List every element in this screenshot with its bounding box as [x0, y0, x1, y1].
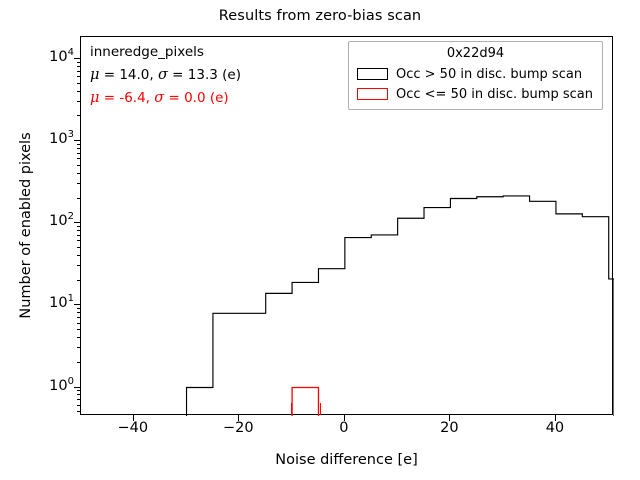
- sigma-symbol-black: σ: [158, 67, 168, 83]
- histogram-outline-black: [187, 196, 614, 416]
- x-tick-label: −40: [103, 420, 163, 436]
- y-tick-label: 100: [34, 379, 74, 394]
- x-tick-red-marker: [291, 403, 292, 415]
- legend-title: 0x22d94: [355, 46, 596, 64]
- page-title: Results from zero-bias scan: [0, 8, 640, 24]
- annotation-dataset-name: inneredge_pixels: [90, 42, 241, 64]
- figure-canvas: Results from zero-bias scan Number of en…: [0, 0, 640, 480]
- y-tick-label: 101: [34, 296, 74, 311]
- legend: 0x22d94 Occ > 50 in disc. bump scanOcc <…: [348, 41, 603, 110]
- sigma-symbol-red: σ: [154, 90, 164, 106]
- mu-value-black: = 14.0,: [99, 67, 158, 83]
- sigma-value-black: = 13.3 (e): [168, 67, 241, 83]
- x-tick-red-marker: [320, 403, 321, 415]
- legend-swatch-black-icon: [357, 68, 388, 80]
- x-tick-label: 20: [419, 420, 479, 436]
- histogram-series-black: [187, 196, 614, 416]
- stats-annotation: inneredge_pixels μ = 14.0, σ = 13.3 (e) …: [90, 42, 241, 111]
- y-axis-tick-labels: 100101102103104: [26, 0, 74, 480]
- legend-entries: Occ > 50 in disc. bump scanOcc <= 50 in …: [355, 64, 596, 104]
- histogram-outline-red: [292, 388, 318, 416]
- y-tick-label: 103: [34, 132, 74, 147]
- y-tick-label: 102: [34, 214, 74, 229]
- annotation-red-stats: μ = -6.4, σ = 0.0 (e): [90, 87, 241, 110]
- histogram-series-red: [292, 388, 318, 416]
- legend-entry[interactable]: Occ > 50 in disc. bump scan: [355, 64, 596, 84]
- x-axis-label: Noise difference [e]: [80, 452, 613, 468]
- legend-entry-label: Occ <= 50 in disc. bump scan: [396, 87, 593, 102]
- x-tick-label: 0: [314, 420, 374, 436]
- legend-entry[interactable]: Occ <= 50 in disc. bump scan: [355, 84, 596, 104]
- annotation-black-stats: μ = 14.0, σ = 13.3 (e): [90, 64, 241, 87]
- legend-swatch-red-icon: [357, 88, 388, 100]
- sigma-value-red: = 0.0 (e): [164, 90, 229, 106]
- y-tick-label: 104: [34, 50, 74, 65]
- legend-entry-label: Occ > 50 in disc. bump scan: [396, 67, 582, 82]
- x-tick-label: 40: [525, 420, 585, 436]
- x-tick-label: −20: [208, 420, 268, 436]
- mu-value-red: = -6.4,: [99, 90, 154, 106]
